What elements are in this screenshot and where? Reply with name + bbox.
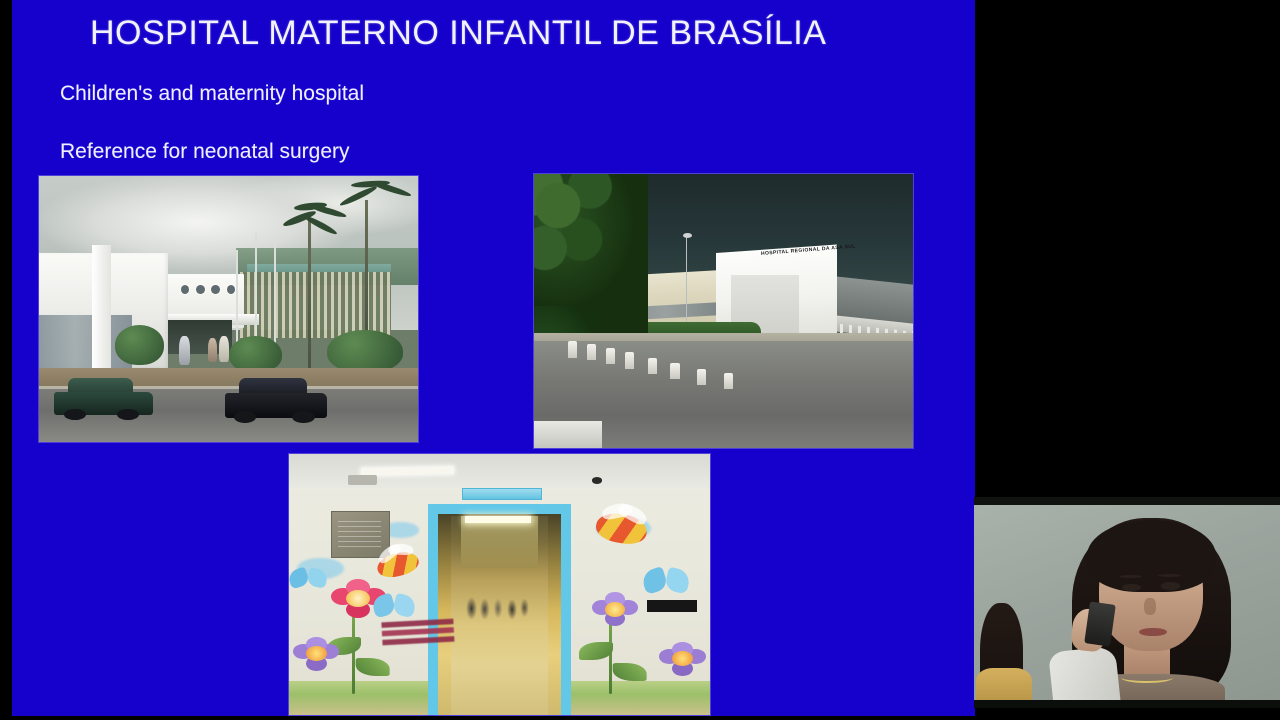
corridor-ceiling-light bbox=[465, 516, 531, 522]
pedestrian bbox=[219, 336, 229, 363]
ceiling-fixture bbox=[348, 475, 377, 485]
webcam-letterbox-bottom bbox=[974, 700, 1280, 708]
painted-butterfly-left bbox=[373, 595, 415, 616]
presenter-eye bbox=[1122, 584, 1141, 591]
wall-plaque bbox=[331, 511, 390, 558]
photo-hospital-front bbox=[39, 176, 418, 442]
foreground-wall bbox=[534, 421, 602, 448]
palm-fronds bbox=[338, 181, 414, 224]
webcam-letterbox-top bbox=[974, 497, 1280, 505]
bollard bbox=[648, 358, 657, 374]
parked-car-green bbox=[54, 378, 153, 415]
presenter-nose bbox=[1144, 598, 1156, 615]
bollard bbox=[587, 344, 596, 360]
bollard bbox=[606, 348, 615, 364]
bollard bbox=[724, 373, 733, 389]
painted-flower-purple-corner bbox=[659, 642, 705, 676]
photo-hospital-regional-asa-sul: HOSPITAL REGIONAL DA ASA SUL bbox=[534, 174, 913, 448]
presenter-mouth bbox=[1139, 628, 1167, 636]
mural-painted-text bbox=[381, 617, 454, 652]
presenter-webcam-overlay[interactable] bbox=[974, 497, 1280, 708]
presenter-eye bbox=[1161, 582, 1180, 589]
lattice-facade bbox=[240, 272, 392, 339]
round-window bbox=[196, 285, 204, 294]
bollard bbox=[625, 352, 634, 368]
painted-flower-purple bbox=[293, 637, 339, 671]
round-window bbox=[227, 285, 235, 294]
slide-subtitle-1: Children's and maternity hospital bbox=[60, 82, 364, 106]
shrub bbox=[115, 325, 164, 365]
bollard bbox=[670, 363, 679, 379]
street-lamp bbox=[686, 237, 688, 325]
screen-capture: HOSPITAL MATERNO INFANTIL DE BRASÍLIA Ch… bbox=[0, 0, 1280, 720]
shrub bbox=[327, 330, 403, 373]
bollard bbox=[697, 369, 706, 385]
slide-subtitle-2: Reference for neonatal surgery bbox=[60, 140, 350, 164]
corridor-doorway bbox=[428, 504, 571, 715]
door-transom-sign bbox=[462, 488, 542, 500]
presentation-slide: HOSPITAL MATERNO INFANTIL DE BRASÍLIA Ch… bbox=[12, 0, 975, 716]
wall-black-panel bbox=[647, 600, 698, 612]
pedestrian bbox=[208, 338, 217, 362]
photo-corridor-mural bbox=[289, 454, 710, 715]
pedestrian bbox=[179, 336, 190, 365]
facade-pillar bbox=[92, 245, 111, 383]
presenter-necklace bbox=[1121, 672, 1173, 682]
presenter-fringe bbox=[1087, 520, 1216, 592]
bollard bbox=[568, 341, 577, 357]
round-window bbox=[211, 285, 219, 294]
slide-title: HOSPITAL MATERNO INFANTIL DE BRASÍLIA bbox=[90, 14, 920, 53]
secondary-person bbox=[980, 603, 1023, 709]
wall-speaker bbox=[592, 477, 602, 483]
painted-flower-purple-right bbox=[592, 592, 638, 626]
corridor-people bbox=[459, 588, 536, 622]
parked-car-black bbox=[225, 378, 327, 418]
painted-butterfly-right bbox=[643, 569, 689, 592]
painted-butterfly-far-left bbox=[289, 569, 327, 587]
